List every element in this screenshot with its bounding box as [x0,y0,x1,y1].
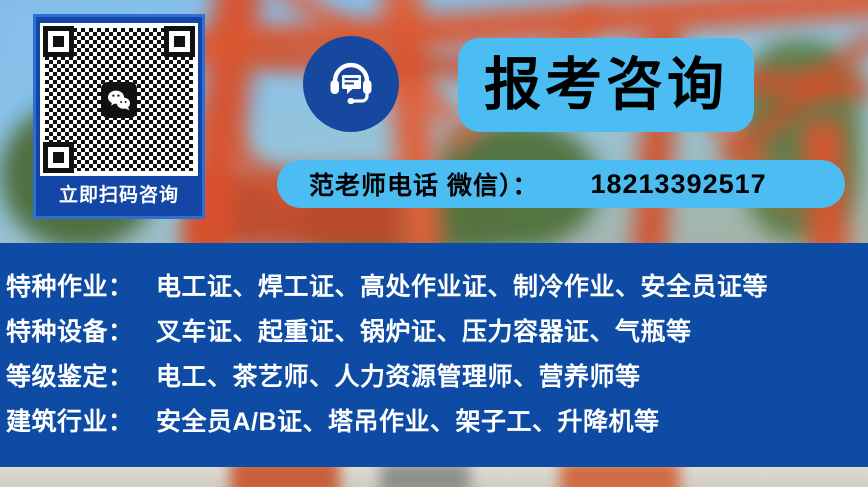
qr-code-card[interactable]: 立即扫码咨询 [33,14,205,219]
category-value: 安全员A/B证、塔吊作业、架子工、升降机等 [156,402,660,438]
category-label: 特种作业： [6,267,156,303]
list-item: 建筑行业： 安全员A/B证、塔吊作业、架子工、升降机等 [6,402,868,447]
qr-caption: 立即扫码咨询 [42,176,196,216]
contact-phone-number[interactable]: 18213392517 [590,169,766,200]
list-item: 特种作业： 电工证、焊工证、高处作业证、制冷作业、安全员证等 [6,267,868,312]
title-pill: 报考咨询 [458,38,754,132]
wechat-icon [101,82,137,118]
contact-label: 范老师电话 微信）： [309,166,538,202]
qr-finder-icon [164,26,195,57]
category-value: 叉车证、起重证、锅炉证、压力容器证、气瓶等 [156,312,692,348]
headset-support-icon [322,53,380,116]
category-label: 建筑行业： [6,402,156,438]
crane-structure [560,466,680,487]
category-label: 等级鉴定： [6,357,156,393]
qr-finder-icon [43,142,74,173]
qr-code-image[interactable] [40,23,198,176]
contact-pill[interactable]: 范老师电话 微信）： 18213392517 [277,160,845,208]
category-value: 电工证、焊工证、高处作业证、制冷作业、安全员证等 [156,267,768,303]
crane-structure [380,466,470,487]
page-title: 报考咨询 [484,57,728,114]
category-list-panel: 特种作业： 电工证、焊工证、高处作业证、制冷作业、安全员证等 特种设备： 叉车证… [0,243,868,467]
category-label: 特种设备： [6,312,156,348]
promo-poster: 立即扫码咨询 报考咨询 范老师电话 微信） [0,0,868,487]
list-item: 特种设备： 叉车证、起重证、锅炉证、压力容器证、气瓶等 [6,312,868,357]
crane-structure [230,466,340,487]
qr-finder-icon [43,26,74,57]
category-value: 电工、茶艺师、人力资源管理师、营养师等 [156,357,641,393]
list-item: 等级鉴定： 电工、茶艺师、人力资源管理师、营养师等 [6,357,868,402]
background-photo-bottom-strip [0,466,868,487]
headset-support-badge [303,36,399,132]
